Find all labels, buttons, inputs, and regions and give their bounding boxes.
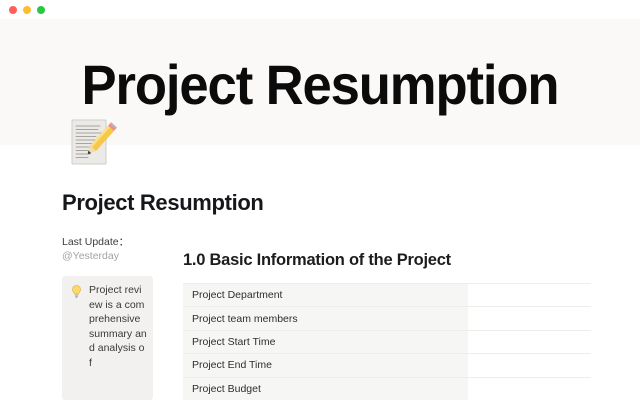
- row-value[interactable]: [468, 284, 591, 307]
- page-title: Project Resumption: [62, 190, 264, 216]
- row-label[interactable]: Project Start Time: [183, 330, 468, 353]
- row-label[interactable]: Project Department: [183, 284, 468, 307]
- row-label[interactable]: Project Budget: [183, 377, 468, 400]
- callout-text: Project review is a comprehensive summar…: [89, 283, 147, 371]
- table-row[interactable]: Project Budget: [183, 377, 591, 400]
- row-value[interactable]: [468, 330, 591, 353]
- last-update-label: Last Update：: [62, 235, 182, 249]
- callout-block[interactable]: Project review is a comprehensive summar…: [62, 276, 153, 400]
- minimize-window-button[interactable]: [23, 6, 31, 14]
- basic-information-table: Project Department Project team members …: [183, 283, 591, 400]
- row-value[interactable]: [468, 377, 591, 400]
- section-heading: 1.0 Basic Information of the Project: [183, 250, 451, 270]
- last-update-meta: Last Update： @Yesterday: [62, 235, 182, 263]
- row-value[interactable]: [468, 354, 591, 377]
- table-row[interactable]: Project team members: [183, 307, 591, 330]
- row-label[interactable]: Project team members: [183, 307, 468, 330]
- maximize-window-button[interactable]: [37, 6, 45, 14]
- row-value[interactable]: [468, 307, 591, 330]
- app-window: Project Resumption Project Resumption: [0, 0, 640, 400]
- lightbulb-icon: [69, 284, 84, 299]
- memo-icon[interactable]: [66, 116, 118, 168]
- table-row[interactable]: Project Department: [183, 284, 591, 307]
- window-titlebar: [0, 0, 640, 19]
- last-update-value[interactable]: @Yesterday: [62, 249, 182, 263]
- document-body: Project Resumption Last Update： @Yesterd…: [0, 145, 640, 400]
- close-window-button[interactable]: [9, 6, 17, 14]
- cover-title: Project Resumption: [19, 57, 621, 113]
- table-body: Project Department Project team members …: [183, 284, 591, 400]
- row-label[interactable]: Project End Time: [183, 354, 468, 377]
- table-row[interactable]: Project End Time: [183, 354, 591, 377]
- table-row[interactable]: Project Start Time: [183, 330, 591, 353]
